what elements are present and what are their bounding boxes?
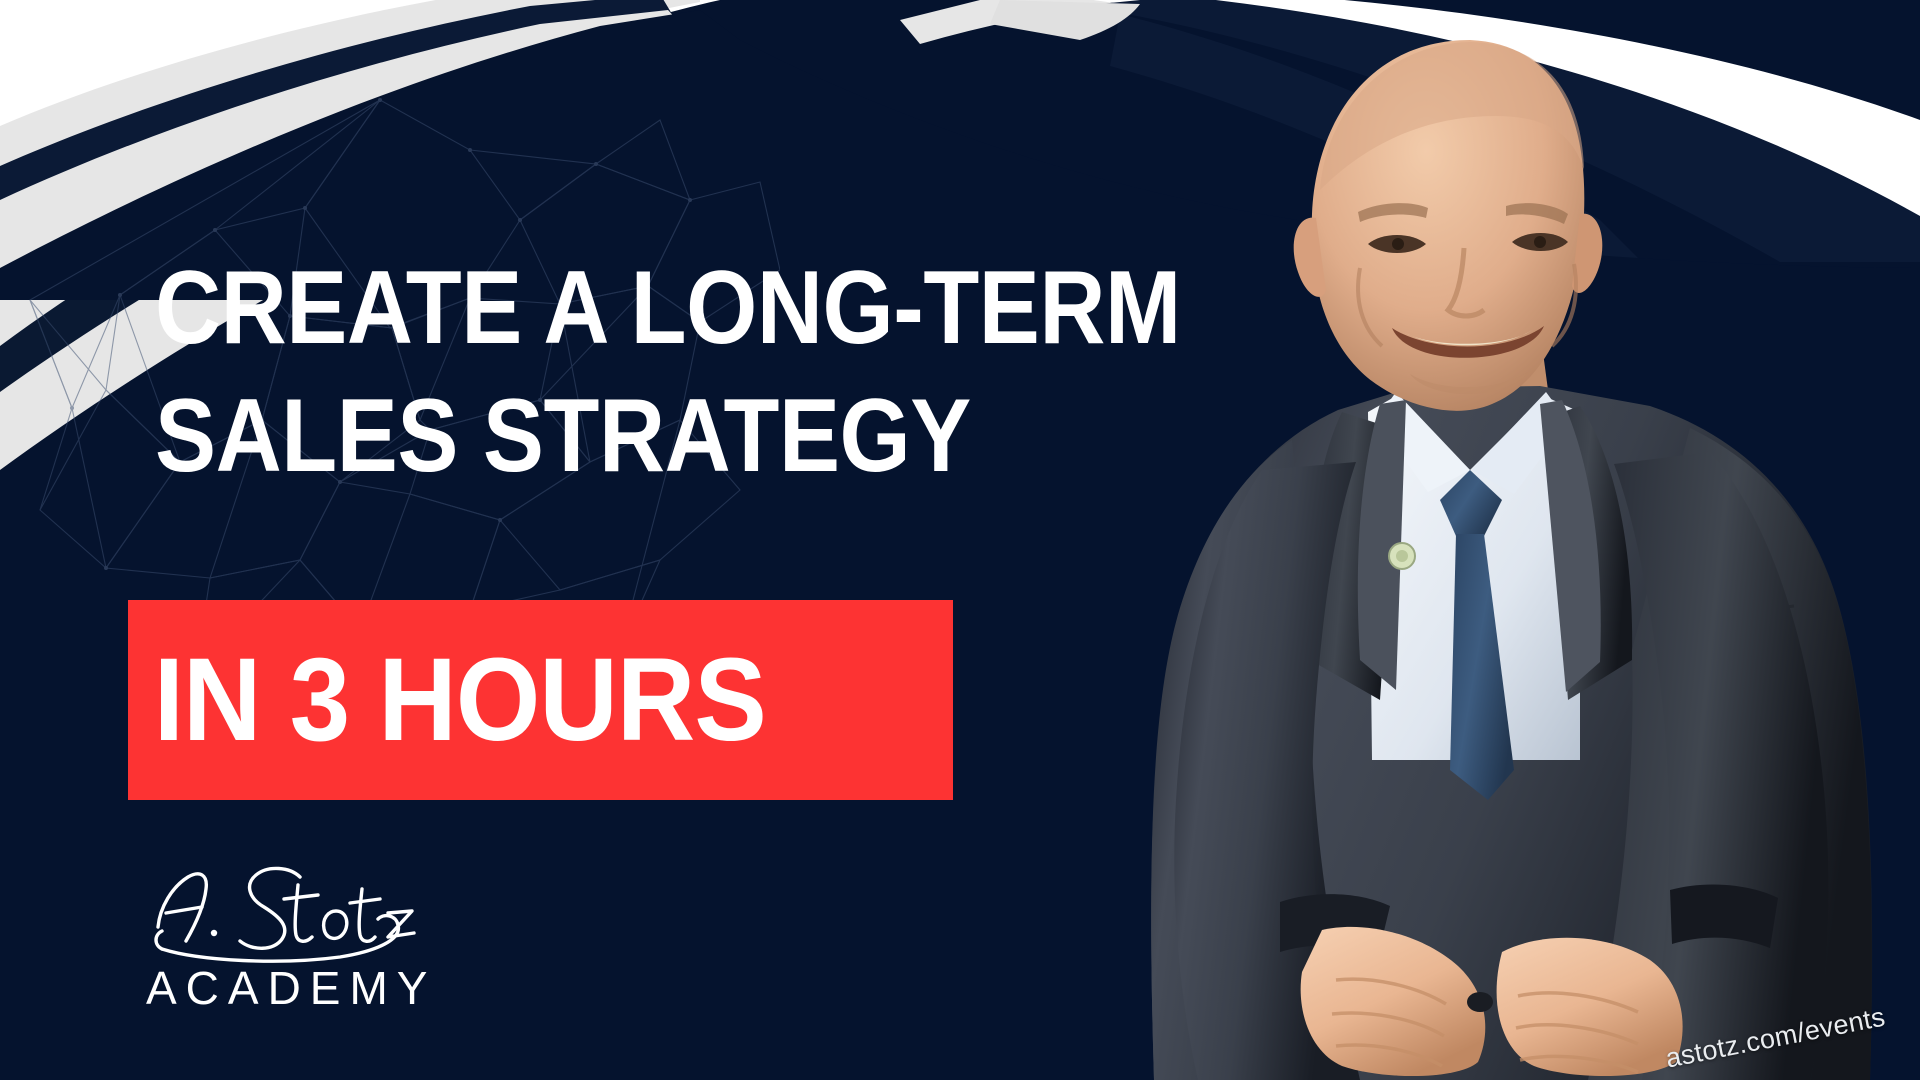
promo-banner: CREATE A LONG-TERM SALES STRATEGY IN 3 H… <box>0 0 1920 1080</box>
headline-line-1: CREATE A LONG-TERM <box>155 255 1246 361</box>
brand-logo: ACADEMY <box>140 855 460 1015</box>
ribbon-top-gray <box>900 0 1130 44</box>
logo-wordmark: ACADEMY <box>140 961 460 1015</box>
highlight-banner: IN 3 HOURS <box>128 600 953 800</box>
speaker-portrait <box>1110 0 1920 1080</box>
jacket-button <box>1467 992 1493 1012</box>
headline-line-2: SALES STRATEGY <box>155 383 1246 489</box>
headline: CREATE A LONG-TERM SALES STRATEGY <box>155 255 1395 489</box>
highlight-text: IN 3 HOURS <box>128 641 766 759</box>
astotz-signature-icon <box>140 855 440 965</box>
